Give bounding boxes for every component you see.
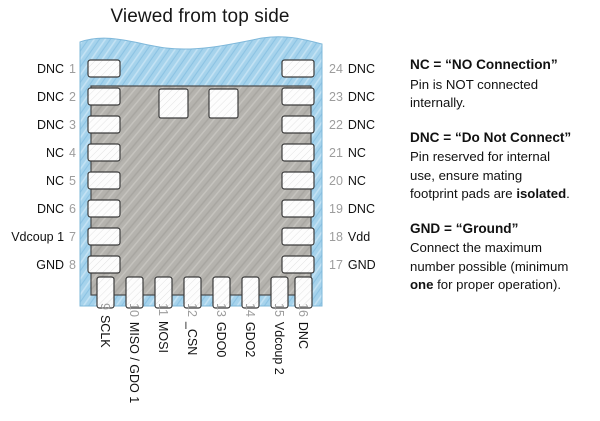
pin-label-16: 16 DNC xyxy=(296,303,310,421)
pin-number: 23 xyxy=(329,90,343,104)
pin-name: GND xyxy=(348,258,376,272)
pin-name: NC xyxy=(46,146,64,160)
pin-label-5: NC 5 xyxy=(0,167,78,195)
pin-name: GND xyxy=(36,258,64,272)
pad-23 xyxy=(282,88,314,105)
legend-line: internally. xyxy=(410,94,598,113)
pin-name: DNC xyxy=(37,62,64,76)
pin-number: 1 xyxy=(69,62,76,76)
thermal-pad-left xyxy=(159,89,188,118)
legend-line: footprint pads are isolated. xyxy=(410,185,598,204)
pin-label-1: DNC 1 xyxy=(0,55,78,83)
pin-number: 11 xyxy=(156,303,170,316)
pad-3 xyxy=(88,116,120,133)
pad-6 xyxy=(88,200,120,217)
pad-1 xyxy=(88,60,120,77)
legend-emphasis: isolated xyxy=(516,186,566,201)
pin-label-17: 17 GND xyxy=(326,251,400,279)
pin-name: GDO0 xyxy=(214,322,228,357)
pin-name: DNC xyxy=(37,90,64,104)
pin-number: 7 xyxy=(69,230,76,244)
pin-label-22: 22 DNC xyxy=(326,111,400,139)
pin-name: DNC xyxy=(348,90,375,104)
pad-8 xyxy=(88,256,120,273)
pin-label-7: Vdcoup 1 7 xyxy=(0,223,78,251)
pin-number: 6 xyxy=(69,202,76,216)
legend-line: one for proper operation). xyxy=(410,276,598,295)
legend-panel: NC = “NO Connection” Pin is NOT connecte… xyxy=(410,56,598,311)
pin-name: DNC xyxy=(348,62,375,76)
pad-19 xyxy=(282,200,314,217)
pin-name: NC xyxy=(348,174,366,188)
pin-label-23: 23 DNC xyxy=(326,83,400,111)
pin-label-21: 21 NC xyxy=(326,139,400,167)
pin-label-18: 18 Vdd xyxy=(326,223,400,251)
pin-label-11: 11 MOSI xyxy=(156,303,170,421)
pin-label-14: 14 GDO2 xyxy=(243,303,257,421)
legend-line-tail: for proper operation). xyxy=(433,277,561,292)
legend-entry-dnc: DNC = “Do Not Connect” Pin reserved for … xyxy=(410,129,598,204)
pad-2 xyxy=(88,88,120,105)
pin-label-3: DNC 3 xyxy=(0,111,78,139)
pin-number: 10 xyxy=(127,303,141,317)
pin-name: MOSI xyxy=(156,321,170,353)
pin-label-15: 15 Vdcoup 2 xyxy=(272,303,286,421)
legend-line: Connect the maximum xyxy=(410,239,598,258)
pin-number: 13 xyxy=(214,303,228,317)
pin-number: 8 xyxy=(69,258,76,272)
pin-name: NC xyxy=(46,174,64,188)
pin-number: 15 xyxy=(272,303,286,317)
pin-label-4: NC 4 xyxy=(0,139,78,167)
pin-number: 21 xyxy=(329,146,343,160)
pin-number: 12 xyxy=(185,303,199,317)
pin-label-2: DNC 2 xyxy=(0,83,78,111)
legend-line-text: footprint pads are xyxy=(410,186,516,201)
legend-entry-nc: NC = “NO Connection” Pin is NOT connecte… xyxy=(410,56,598,113)
pin-label-9: 9 SCLK xyxy=(98,303,112,421)
pin-number: 22 xyxy=(329,118,343,132)
pin-number: 3 xyxy=(69,118,76,132)
legend-heading: DNC = “Do Not Connect” xyxy=(410,129,598,148)
pad-21 xyxy=(282,144,314,161)
pad-17 xyxy=(282,256,314,273)
pin-label-24: 24 DNC xyxy=(326,55,400,83)
pin-number: 24 xyxy=(329,62,343,76)
pad-4 xyxy=(88,144,120,161)
pin-name: MISO / GDO 1 xyxy=(127,322,141,403)
pad-22 xyxy=(282,116,314,133)
pin-name: _CSN xyxy=(185,322,199,355)
pad-24 xyxy=(282,60,314,77)
pin-name: Vdd xyxy=(348,230,370,244)
pin-number: 20 xyxy=(329,174,343,188)
pad-7 xyxy=(88,228,120,245)
pad-20 xyxy=(282,172,314,189)
pin-label-19: 19 DNC xyxy=(326,195,400,223)
right-pin-label-column: 24 DNC 23 DNC 22 DNC 21 NC 20 NC 19 DNC … xyxy=(326,55,400,279)
pin-name: GDO2 xyxy=(243,322,257,357)
pin-number: 2 xyxy=(69,90,76,104)
pin-number: 5 xyxy=(69,174,76,188)
legend-heading: GND = “Ground” xyxy=(410,220,598,239)
pin-label-12: 12 _CSN xyxy=(185,303,199,421)
pin-name: DNC xyxy=(348,118,375,132)
pin-name: DNC xyxy=(296,322,310,349)
pad-18 xyxy=(282,228,314,245)
legend-line: use, ensure mating xyxy=(410,167,598,186)
thermal-pad-right xyxy=(209,89,238,118)
pin-label-13: 13 GDO0 xyxy=(214,303,228,421)
legend-line: number possible (minimum xyxy=(410,258,598,277)
pad-5 xyxy=(88,172,120,189)
legend-line-tail: . xyxy=(566,186,570,201)
legend-heading: NC = “NO Connection” xyxy=(410,56,598,75)
legend-emphasis: one xyxy=(410,277,433,292)
pin-number: 4 xyxy=(69,146,76,160)
bottom-pin-label-row: 9 SCLK 10 MISO / GDO 1 11 MOSI 12 _CSN 1… xyxy=(88,303,328,421)
pin-label-6: DNC 6 xyxy=(0,195,78,223)
legend-line: Pin reserved for internal xyxy=(410,148,598,167)
die-paddle xyxy=(91,86,311,295)
pin-name: Vdcoup 2 xyxy=(272,322,286,375)
pin-name: DNC xyxy=(37,118,64,132)
pin-name: DNC xyxy=(348,202,375,216)
pin-label-8: GND 8 xyxy=(0,251,78,279)
pin-name: Vdcoup 1 xyxy=(11,230,64,244)
pin-name: SCLK xyxy=(98,315,112,348)
pin-label-10: 10 MISO / GDO 1 xyxy=(127,303,141,421)
pin-label-20: 20 NC xyxy=(326,167,400,195)
pin-number: 18 xyxy=(329,230,343,244)
left-pin-label-column: DNC 1 DNC 2 DNC 3 NC 4 NC 5 DNC 6 Vdcoup… xyxy=(0,55,78,279)
pin-number: 14 xyxy=(243,303,257,317)
pin-number: 17 xyxy=(329,258,343,272)
pin-number: 19 xyxy=(329,202,343,216)
pin-name: DNC xyxy=(37,202,64,216)
pin-name: NC xyxy=(348,146,366,160)
pin-number: 9 xyxy=(98,303,112,310)
package-diagram: DNC 1 DNC 2 DNC 3 NC 4 NC 5 DNC 6 Vdcoup… xyxy=(0,0,400,421)
legend-line: Pin is NOT connected xyxy=(410,76,598,95)
legend-entry-gnd: GND = “Ground” Connect the maximum numbe… xyxy=(410,220,598,295)
pin-number: 16 xyxy=(296,303,310,317)
